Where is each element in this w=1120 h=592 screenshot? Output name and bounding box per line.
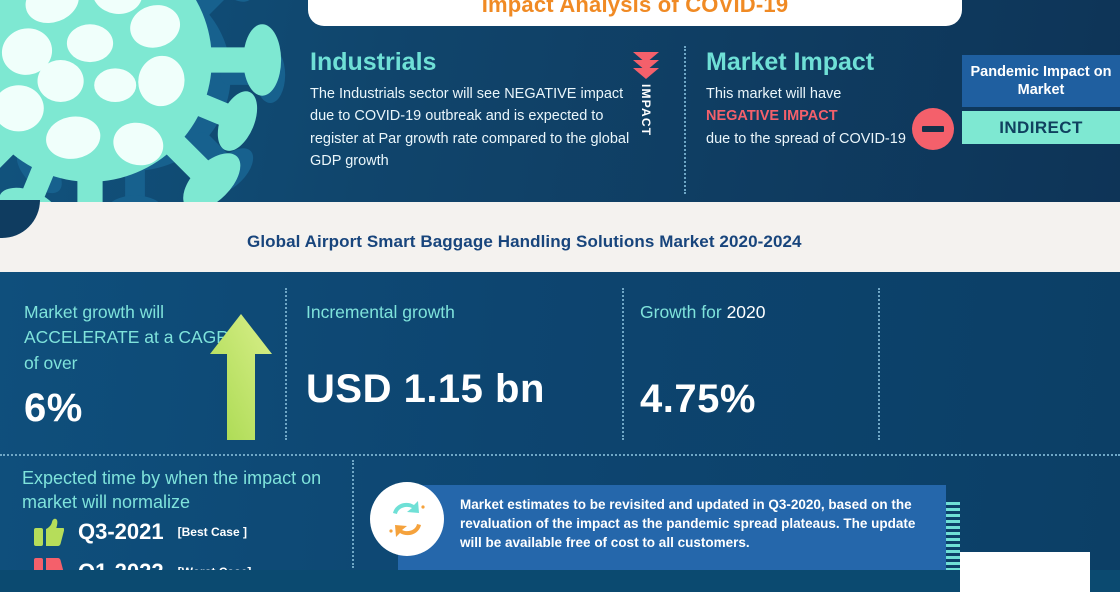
report-title-band: Global Airport Smart Baggage Handling So… xyxy=(0,202,1120,272)
vertical-divider xyxy=(352,460,354,568)
normalize-title: Expected time by when the impact on mark… xyxy=(22,466,352,515)
kpi-growth-value: 4.75% xyxy=(640,377,890,422)
title-pill: Impact Analysis of COVID-19 xyxy=(308,0,962,26)
vertical-divider xyxy=(622,288,624,440)
kpi-row: Market growth will ACCELERATE at a CAGR … xyxy=(0,272,1120,458)
bottom-row: Expected time by when the impact on mark… xyxy=(0,458,1120,570)
thumbs-down-icon xyxy=(34,558,64,570)
kpi-cagr: Market growth will ACCELERATE at a CAGR … xyxy=(24,300,234,431)
stripe-decoration xyxy=(946,499,960,570)
pandemic-impact-header: Pandemic Impact on Market xyxy=(962,55,1120,107)
chevron-down-icon xyxy=(633,68,659,79)
impact-indicator-negative: IMPACT xyxy=(628,52,664,192)
virus-icon xyxy=(0,0,300,202)
sector-body: The Industrials sector will see NEGATIVE… xyxy=(310,83,630,173)
market-impact-line1: This market will have xyxy=(706,86,841,102)
infographic-root: Impact Analysis of COVID-19 Industrials … xyxy=(0,0,1120,570)
note-text: Market estimates to be revisited and upd… xyxy=(460,495,930,552)
normalize-worst-value: Q1-2022 xyxy=(78,559,164,570)
page-title: Impact Analysis of COVID-19 xyxy=(482,0,789,26)
impact-label: IMPACT xyxy=(639,84,653,136)
vertical-divider xyxy=(684,46,686,194)
normalize-worst-case: [Worst Case] xyxy=(178,565,252,570)
market-impact-highlight: NEGATIVE IMPACT xyxy=(706,108,838,124)
thumbs-up-icon xyxy=(34,518,64,546)
sector-heading: Industrials xyxy=(310,48,630,77)
kpi-cagr-label: Market growth will ACCELERATE at a CAGR … xyxy=(24,300,234,376)
note-box: Market estimates to be revisited and upd… xyxy=(398,485,946,570)
top-panel: Impact Analysis of COVID-19 Industrials … xyxy=(0,0,1120,202)
sector-block: Industrials The Industrials sector will … xyxy=(310,48,630,173)
normalize-row-worst: Q1-2022 [Worst Case] xyxy=(34,558,251,570)
kpi-growth-year: 2020 xyxy=(727,302,766,322)
market-impact-line2: due to the spread of COVID-19 xyxy=(706,131,906,147)
bottom-right-card xyxy=(960,552,1090,592)
normalize-best-case: [Best Case ] xyxy=(178,525,247,539)
kpi-incremental: Incremental growth USD 1.15 bn xyxy=(306,300,606,412)
market-impact-heading: Market Impact xyxy=(706,48,906,77)
report-title: Global Airport Smart Baggage Handling So… xyxy=(247,232,802,252)
kpi-growth-label: Growth for xyxy=(640,302,722,322)
normalize-row-best: Q3-2021 [Best Case ] xyxy=(34,518,247,546)
kpi-incremental-value: USD 1.15 bn xyxy=(306,367,606,412)
vertical-divider xyxy=(285,288,287,440)
kpi-incremental-label: Incremental growth xyxy=(306,300,606,325)
horizontal-divider xyxy=(0,454,1120,456)
kpi-cagr-value: 6% xyxy=(24,386,234,431)
minus-circle-icon xyxy=(912,108,954,150)
refresh-cycle-icon xyxy=(370,482,444,556)
kpi-growth-2020: Growth for 2020 4.75% xyxy=(640,300,890,422)
market-impact-block: Market Impact This market will have NEGA… xyxy=(706,48,906,150)
refresh-arrows-icon xyxy=(381,493,433,545)
pandemic-impact-value: INDIRECT xyxy=(962,111,1120,144)
arrow-up-icon xyxy=(208,312,274,442)
normalize-best-value: Q3-2021 xyxy=(78,519,164,545)
band-corner-decoration xyxy=(0,200,40,238)
